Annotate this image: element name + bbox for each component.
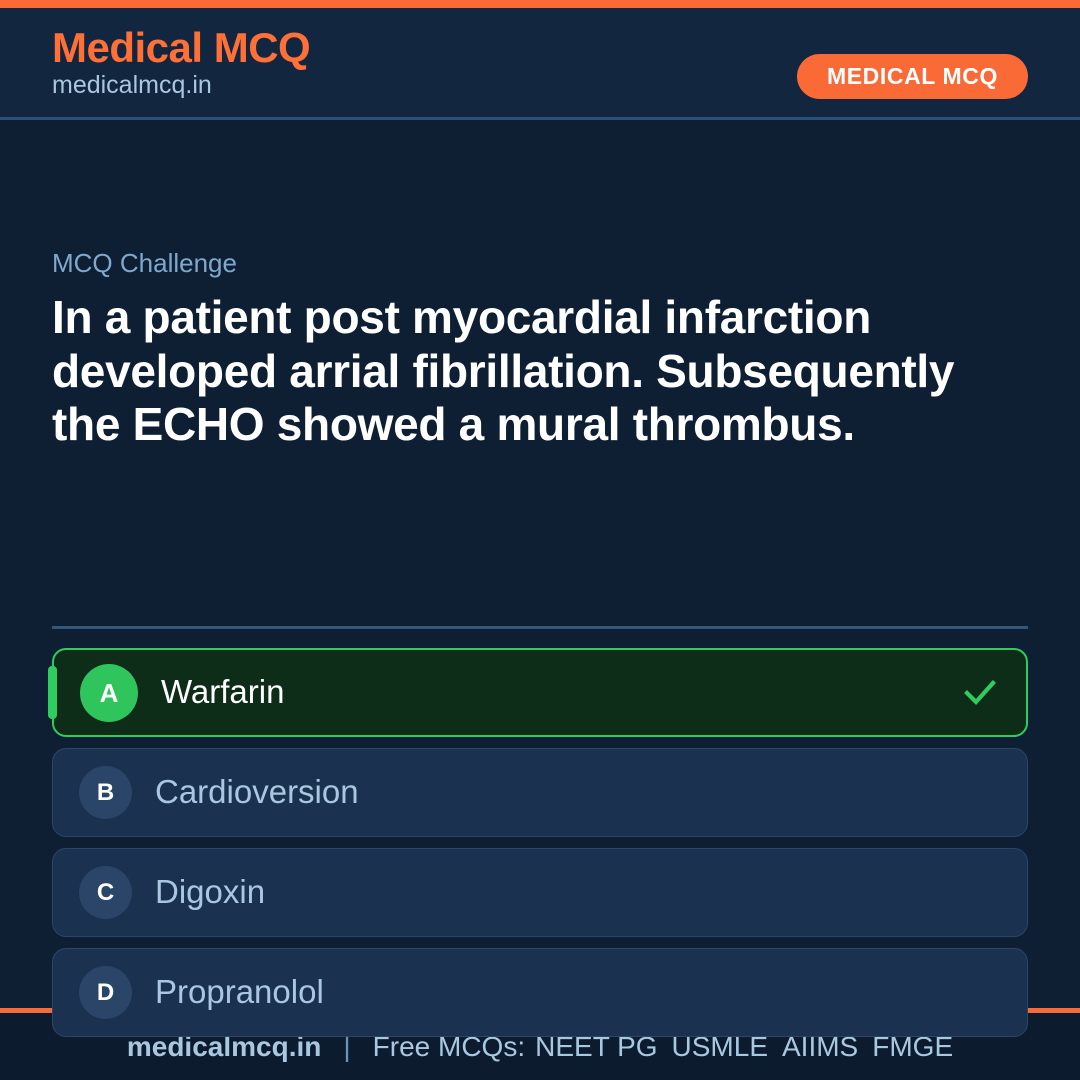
mcq-card: Medical MCQ medicalmcq.in MEDICAL MCQ MC… — [0, 0, 1080, 1080]
option-b[interactable]: B Cardioversion — [52, 748, 1028, 837]
question-text: In a patient post myocardial infarction … — [52, 291, 1028, 451]
main-content: MCQ Challenge In a patient post myocardi… — [0, 120, 1080, 1008]
option-text-b: Cardioversion — [155, 774, 359, 810]
option-text-d: Propranolol — [155, 974, 324, 1010]
header-badge: MEDICAL MCQ — [797, 54, 1028, 99]
question-block: MCQ Challenge In a patient post myocardi… — [52, 248, 1028, 451]
option-d[interactable]: D Propranolol — [52, 948, 1028, 1037]
option-text-c: Digoxin — [155, 874, 265, 910]
brand-title: Medical MCQ — [52, 26, 310, 70]
option-text-a: Warfarin — [161, 674, 284, 710]
section-divider — [52, 626, 1028, 629]
option-letter-a: A — [80, 664, 138, 722]
option-letter-b: B — [79, 766, 132, 819]
brand-block: Medical MCQ medicalmcq.in — [52, 26, 310, 100]
top-accent-bar — [0, 0, 1080, 8]
option-c[interactable]: C Digoxin — [52, 848, 1028, 937]
correct-accent-bar — [48, 666, 57, 719]
options-list: A Warfarin B Cardioversion C Digoxin — [52, 648, 1028, 1037]
option-a[interactable]: A Warfarin — [52, 648, 1028, 737]
question-kicker: MCQ Challenge — [52, 248, 1028, 279]
check-icon — [962, 675, 998, 711]
header: Medical MCQ medicalmcq.in MEDICAL MCQ — [0, 8, 1080, 120]
option-letter-d: D — [79, 966, 132, 1019]
brand-subtitle: medicalmcq.in — [52, 72, 310, 100]
option-letter-c: C — [79, 866, 132, 919]
